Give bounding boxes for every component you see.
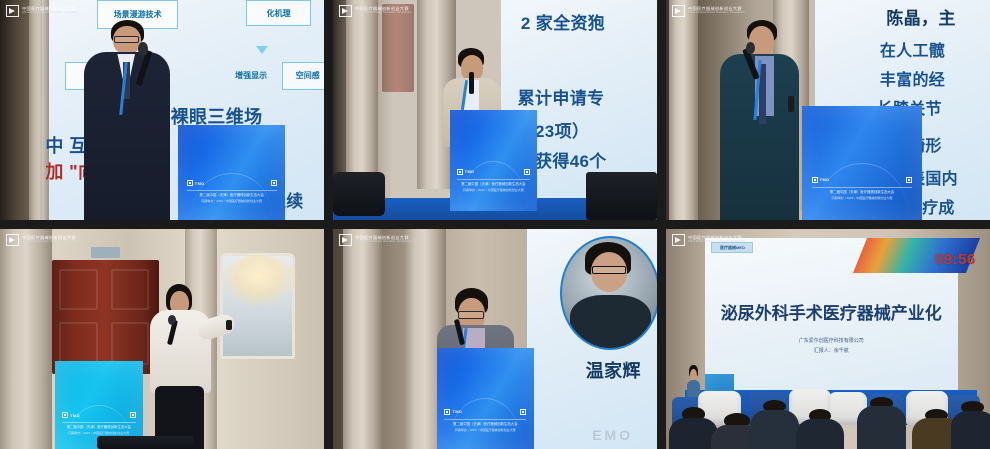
venue-logo-text: EMO <box>592 427 633 443</box>
venue-column-left <box>343 229 382 449</box>
podium-partner-logo-icon <box>271 180 277 186</box>
venue-door <box>382 4 414 92</box>
podium-branding: TMD 第二届中国（天津）医疗器械创新生态大会 同期举办｜2023｜中国医疗器械… <box>457 169 531 192</box>
photo-tile-5[interactable]: 温家辉 EMO TMD 第二届中国（天津）医疗器械创新生 <box>333 229 657 449</box>
podium-partner-logo-icon <box>906 177 912 183</box>
watermark: 中国医疗器械创新创业大赛 China Medical Device Innova… <box>339 5 412 17</box>
podium-line-1: 第二届中国（天津）医疗器械创新生态大会 <box>62 422 136 429</box>
slide-card-2: 化机理 <box>246 0 311 26</box>
podium-line-2: 同期举办｜2023｜中国医疗器械创新创业大赛 <box>832 196 893 200</box>
photo-tile-2[interactable]: 2 家全资狍 累计申请专 权23项） 已获得46个 TMD <box>333 0 657 220</box>
slide-card-5: 空间感 <box>282 62 324 91</box>
door-panel-3 <box>59 322 97 365</box>
podium-logo-icon: TMD <box>187 180 205 186</box>
photo-grid: 场景漫游技术 化机理 增强显示 空间感 对重建的裸眼三维场 中 互，打 加 "向… <box>0 0 990 449</box>
podium-line-2: 同期举办｜2023｜中国医疗器械创新创业大赛 <box>201 199 262 203</box>
portrait-name: 温家辉 <box>586 357 641 383</box>
audience-body <box>796 419 845 449</box>
speaker-logo-icon <box>339 5 352 17</box>
photo-6-content: 09:56 泌尿外科手术医疗器械产业化 广东爱尔创医疗科技有限公司 汇报人：余千… <box>666 229 990 449</box>
door-panel-1 <box>59 269 97 310</box>
slide-card-4: 增强显示 <box>224 62 279 91</box>
stage-monitor-right <box>586 172 657 220</box>
audience-body <box>951 411 990 449</box>
podium-line-1: 第二届中国（天津）医疗器械创新生态大会 <box>187 190 277 197</box>
slide-arrow-icon <box>256 46 268 54</box>
slide-line-2: 在人工髋 <box>880 37 945 61</box>
photo-4-content: TMD 第二届中国（天津）医疗器械创新生态大会 同期举办｜2023｜中国医疗器械… <box>0 229 324 449</box>
slide-line-3: 丰富的经 <box>880 66 945 90</box>
speaker-figure <box>78 18 188 220</box>
slide-subtitle-company: 广东爱尔创医疗科技有限公司 <box>705 337 958 344</box>
audience-body <box>857 406 906 449</box>
watermark-en: China Medical Device Innovation Competit… <box>355 12 412 15</box>
speaker-figure <box>143 284 234 449</box>
photo-tile-4[interactable]: TMD 第二届中国（天津）医疗器械创新生态大会 同期举办｜2023｜中国医疗器械… <box>0 229 324 449</box>
podium-partner-logo-icon <box>524 169 530 175</box>
podium: TMD 第二届中国（天津）医疗器械创新生态大会 同期举办｜2023｜中国医疗器械… <box>450 110 537 211</box>
speaker-logo-icon <box>6 234 19 246</box>
stage-monitor <box>97 436 194 449</box>
speaker-logo-icon <box>339 234 352 246</box>
watermark-en: China Medical Device Innovation Competit… <box>688 241 745 244</box>
venue-column-left <box>669 0 698 220</box>
podium-logo-icon: TMD <box>444 409 462 415</box>
photo-tile-6[interactable]: 09:56 泌尿外科手术医疗器械产业化 广东爱尔创医疗科技有限公司 汇报人：余千… <box>666 229 990 449</box>
glasses-icon <box>114 36 139 43</box>
podium: TMD 第二届中国（天津）医疗器械创新生态大会 同期举办｜2023｜中国医疗器械… <box>802 106 922 220</box>
podium-logo-icon: TMD <box>457 169 475 175</box>
watermark: 中国医疗器械创新创业大赛 China Medical Device Innova… <box>672 234 745 246</box>
audience-area <box>666 374 990 449</box>
podium: TMD 第二届中国（天津）医疗器械创新生态大会 同期举办｜2023｜中国医疗器械… <box>178 125 285 220</box>
photo-tile-1[interactable]: 场景漫游技术 化机理 增强显示 空间感 对重建的裸眼三维场 中 互，打 加 "向… <box>0 0 324 220</box>
audience-body <box>750 410 799 449</box>
watermark: 中国医疗器械创新创业大赛 China Medical Device Innova… <box>672 5 745 17</box>
venue-column <box>29 0 48 220</box>
podium-branding: TMD 第二届中国（天津）医疗器械创新生态大会 同期举办｜2023｜中国医疗器械… <box>62 412 136 435</box>
microphone <box>469 72 474 94</box>
watermark: 中国医疗器械创新创业大赛 China Medical Device Innova… <box>6 234 79 246</box>
podium-line-1: 第二届中国（天津）医疗器械创新生态大会 <box>457 179 531 186</box>
glasses-icon <box>458 311 484 319</box>
speaker-figure <box>718 20 815 220</box>
watermark-en: China Medical Device Innovation Competit… <box>355 241 412 244</box>
podium-line-1: 第二届中国（天津）医疗器械创新生态大会 <box>444 419 526 426</box>
venue-column-left <box>346 0 378 180</box>
podium-line-2: 同期举办｜2023｜中国医疗器械创新创业大赛 <box>68 431 129 435</box>
presenter-clicker <box>226 320 232 330</box>
slide-title: 泌尿外科手术医疗器械产业化 <box>705 299 958 324</box>
podium-line-2: 同期举办｜2023｜中国医疗器械创新创业大赛 <box>463 188 524 192</box>
podium-branding: TMD 第二届中国（天津）医疗器械创新生态大会 同期举办｜2023｜中国医疗器械… <box>444 409 526 432</box>
speaker-logo-icon <box>672 234 685 246</box>
countdown-timer: 09:56 <box>935 251 976 268</box>
slide-line-2: 累计申请专 <box>518 84 605 109</box>
speaker-logo-icon <box>672 5 685 17</box>
presenter-clicker <box>788 96 794 112</box>
watermark: 中国医疗器械创新创业大赛 China Medical Device Innova… <box>6 5 79 17</box>
stage-monitor-left <box>333 172 385 216</box>
speaker-logo-icon <box>6 5 19 17</box>
watermark-en: China Medical Device Innovation Competit… <box>688 12 745 15</box>
photo-tile-3[interactable]: 陈晶，主 在人工髋 丰富的经 长膝关节 部畸形 表国内 医疗成 TMD 第二届中… <box>666 0 990 220</box>
watermark-en: China Medical Device Innovation Competit… <box>22 12 79 15</box>
podium-line-2: 同期举办｜2023｜中国医疗器械创新创业大赛 <box>455 428 516 432</box>
photo-2-content: 2 家全资狍 累计申请专 权23项） 已获得46个 TMD <box>333 0 657 220</box>
podium-line-1: 第二届中国（天津）医疗器械创新生态大会 <box>812 187 913 194</box>
venue-column-left <box>0 229 52 449</box>
photo-3-content: 陈晶，主 在人工髋 丰富的经 长膝关节 部畸形 表国内 医疗成 TMD 第二届中… <box>666 0 990 220</box>
podium-partner-logo-icon <box>130 412 136 418</box>
slide-subtitle-presenter: 汇报人：余千航 <box>705 347 958 354</box>
photo-1-content: 场景漫游技术 化机理 增强显示 空间感 对重建的裸眼三维场 中 互，打 加 "向… <box>0 0 324 220</box>
podium-partner-logo-icon <box>520 409 526 415</box>
microphone-head <box>746 42 755 54</box>
glasses-icon <box>592 266 627 274</box>
slide-line-1: 2 家全资狍 <box>521 9 605 34</box>
exit-sign <box>91 247 120 258</box>
slide-line-1: 陈晶，主 <box>886 4 955 29</box>
watermark: 中国医疗器械创新创业大赛 China Medical Device Innova… <box>339 234 412 246</box>
podium-branding: TMD 第二届中国（天津）医疗器械创新生态大会 同期举办｜2023｜中国医疗器械… <box>812 177 913 200</box>
podium-logo-icon: TMD <box>62 412 80 418</box>
photo-5-content: 温家辉 EMO TMD 第二届中国（天津）医疗器械创新生 <box>333 229 657 449</box>
watermark-en: China Medical Device Innovation Competit… <box>22 241 79 244</box>
podium-branding: TMD 第二届中国（天津）医疗器械创新生态大会 同期举办｜2023｜中国医疗器械… <box>187 180 277 203</box>
podium: TMD 第二届中国（天津）医疗器械创新生态大会 同期举办｜2023｜中国医疗器械… <box>437 348 534 449</box>
portrait-body <box>570 295 651 348</box>
speaker-portrait <box>560 236 657 350</box>
